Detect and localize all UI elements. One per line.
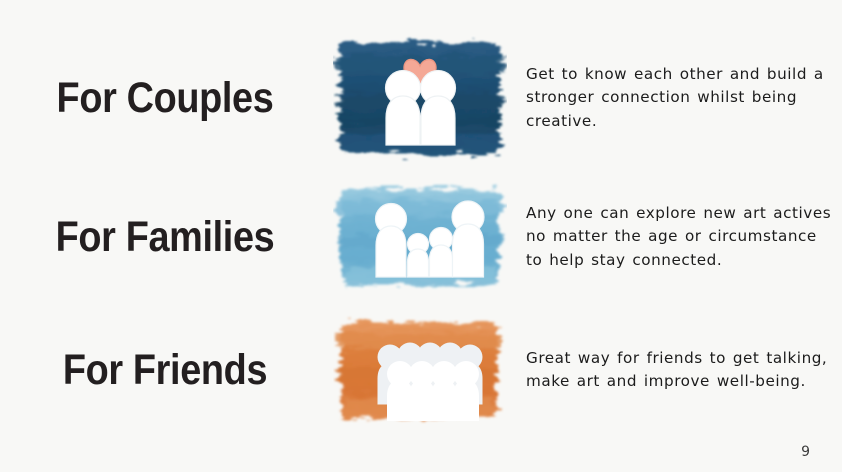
- body-text-friends: Great way for friends to get talking, ma…: [510, 347, 842, 393]
- navy-brush-swatch: [330, 30, 510, 166]
- slide-canvas: For Couples: [0, 0, 842, 472]
- heading-for-families: For Families: [20, 216, 310, 259]
- family-figures-icon: [333, 179, 507, 295]
- heading-for-couples: For Couples: [20, 77, 310, 120]
- page-number: 9: [801, 444, 810, 460]
- orange-brush-swatch: [330, 312, 510, 428]
- body-text-families: Any one can explore new art actives no m…: [510, 202, 842, 271]
- body-text-couples: Get to know each other and build a stron…: [510, 63, 842, 132]
- friends-figures-icon: [333, 312, 507, 428]
- light-blue-brush-swatch: [330, 179, 510, 295]
- content-row-friends: For Friends: [0, 306, 842, 434]
- couple-figures-icon: [333, 30, 507, 166]
- heading-for-friends: For Friends: [20, 349, 310, 392]
- content-row-families: For Families: [0, 168, 842, 306]
- content-row-couples: For Couples: [0, 24, 842, 172]
